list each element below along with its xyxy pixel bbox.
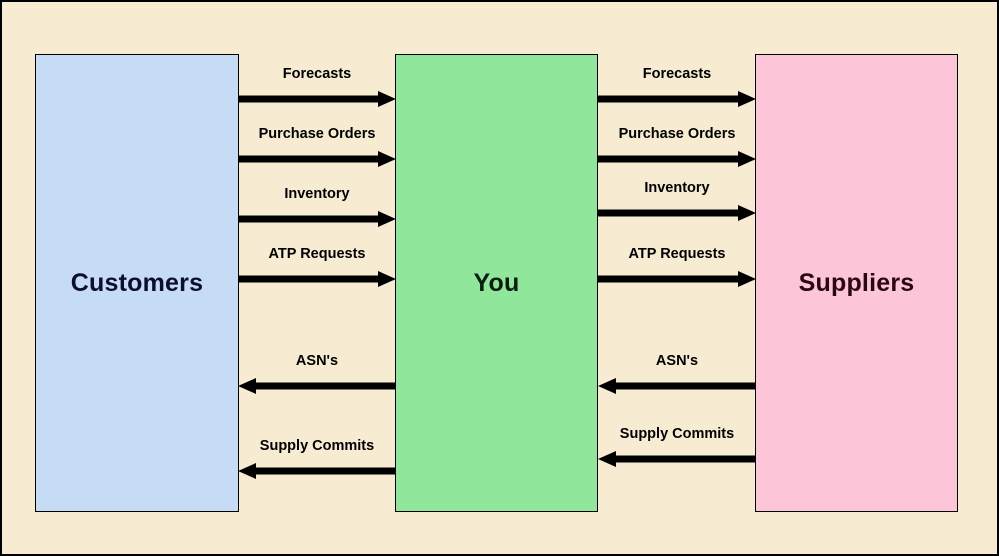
arrow-right-icon bbox=[598, 268, 756, 290]
entity-label-suppliers: Suppliers bbox=[799, 269, 915, 298]
flow-customers-to-you-purchase-orders[interactable]: Purchase Orders bbox=[238, 126, 396, 170]
flow-you-to-suppliers-atp-requests[interactable]: ATP Requests bbox=[598, 246, 756, 290]
flow-label: ATP Requests bbox=[238, 246, 396, 262]
entity-box-suppliers[interactable]: Suppliers bbox=[755, 54, 958, 512]
arrow-left-icon bbox=[238, 375, 396, 397]
arrow-left-icon bbox=[598, 375, 756, 397]
flow-label: Supply Commits bbox=[598, 426, 756, 442]
arrow-right-icon bbox=[598, 148, 756, 170]
flow-you-to-customers-asns[interactable]: ASN's bbox=[238, 353, 396, 397]
arrow-right-icon bbox=[598, 202, 756, 224]
entity-box-customers[interactable]: Customers bbox=[35, 54, 239, 512]
diagram-canvas: Customers You Suppliers Forecasts Purcha… bbox=[0, 0, 999, 556]
arrow-right-icon bbox=[598, 88, 756, 110]
flow-label: Purchase Orders bbox=[598, 126, 756, 142]
flow-label: Forecasts bbox=[238, 66, 396, 82]
arrow-right-icon bbox=[238, 148, 396, 170]
flow-label: Inventory bbox=[238, 186, 396, 202]
flow-label: Forecasts bbox=[598, 66, 756, 82]
flow-you-to-customers-supply-commits[interactable]: Supply Commits bbox=[238, 438, 396, 482]
flow-label: Inventory bbox=[598, 180, 756, 196]
entity-box-you[interactable]: You bbox=[395, 54, 598, 512]
flow-you-to-suppliers-inventory[interactable]: Inventory bbox=[598, 180, 756, 224]
flow-suppliers-to-you-asns[interactable]: ASN's bbox=[598, 353, 756, 397]
flow-you-to-suppliers-forecasts[interactable]: Forecasts bbox=[598, 66, 756, 110]
flow-label: Supply Commits bbox=[238, 438, 396, 454]
arrow-right-icon bbox=[238, 88, 396, 110]
flow-customers-to-you-inventory[interactable]: Inventory bbox=[238, 186, 396, 230]
flow-label: ASN's bbox=[238, 353, 396, 369]
arrow-left-icon bbox=[598, 448, 756, 470]
arrow-right-icon bbox=[238, 268, 396, 290]
entity-label-you: You bbox=[474, 269, 520, 298]
flow-customers-to-you-forecasts[interactable]: Forecasts bbox=[238, 66, 396, 110]
arrow-left-icon bbox=[238, 460, 396, 482]
flow-suppliers-to-you-supply-commits[interactable]: Supply Commits bbox=[598, 426, 756, 470]
flow-label: ASN's bbox=[598, 353, 756, 369]
flow-label: ATP Requests bbox=[598, 246, 756, 262]
arrow-right-icon bbox=[238, 208, 396, 230]
flow-label: Purchase Orders bbox=[238, 126, 396, 142]
flow-customers-to-you-atp-requests[interactable]: ATP Requests bbox=[238, 246, 396, 290]
flow-you-to-suppliers-purchase-orders[interactable]: Purchase Orders bbox=[598, 126, 756, 170]
entity-label-customers: Customers bbox=[71, 269, 203, 298]
